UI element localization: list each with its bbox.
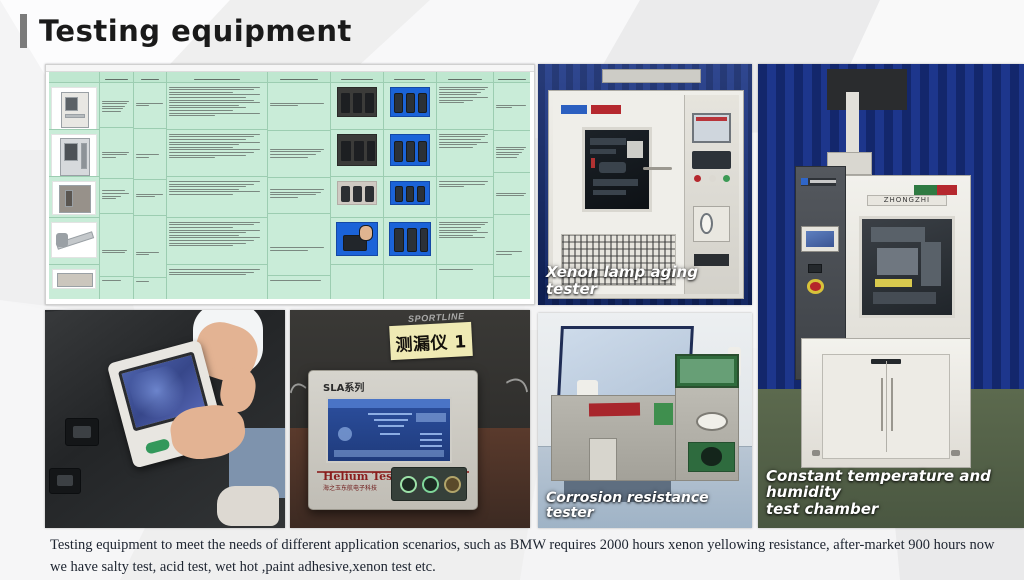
table-cell	[167, 218, 267, 265]
table-column-sample-photo-b	[384, 72, 437, 299]
table-cell	[134, 129, 167, 181]
table-cell	[134, 216, 167, 278]
table-cell	[494, 131, 530, 173]
table-cell	[167, 177, 267, 218]
sample-photo	[390, 181, 430, 205]
sample-photo	[337, 134, 377, 166]
table-cell	[49, 83, 99, 130]
panel-caption-line2: test chamber	[766, 501, 1018, 518]
secondary-display	[808, 264, 823, 272]
page-title-block: Testing equipment	[20, 14, 352, 48]
control-strip[interactable]	[391, 467, 467, 501]
table-cell	[268, 83, 330, 131]
table-cell	[437, 177, 494, 218]
table-cell	[100, 179, 133, 214]
equipment-thumbnail	[51, 134, 97, 177]
table-column-sample-photo-a	[331, 72, 384, 299]
equipment-thumbnail	[52, 269, 96, 289]
indicator-green	[723, 175, 730, 182]
door-handle-left[interactable]	[881, 378, 883, 431]
table-header-cell	[494, 72, 530, 83]
table-cell	[494, 83, 530, 131]
table-cell	[384, 130, 436, 177]
table-cell	[268, 131, 330, 177]
indicator-red	[694, 175, 701, 182]
table-cell	[167, 130, 267, 177]
table-cell	[437, 218, 494, 265]
equipment-thumbnail	[51, 222, 97, 258]
footnote-block: Testing equipment to meet the needs of d…	[50, 534, 1000, 579]
cth-chamber-scene: ZHONGZHI	[758, 64, 1024, 528]
equipment-thumbnail	[52, 181, 96, 215]
helium-leak-tester-scene: SPORTLINE 测漏仪 1 SLA系列	[290, 310, 530, 528]
device-logo	[145, 438, 171, 455]
handheld-tester-scene	[45, 310, 285, 528]
table-cell	[384, 83, 436, 130]
double-doors[interactable]	[822, 354, 950, 459]
vent-slot	[871, 359, 901, 364]
test-specification-table-panel[interactable]	[45, 64, 535, 305]
table-cell	[268, 214, 330, 276]
table-header-cell	[134, 72, 167, 83]
ceiling-ducts	[827, 69, 907, 111]
table-cell	[494, 173, 530, 215]
door-handle-right[interactable]	[891, 378, 893, 431]
window-model-text: ZHONGZHI	[884, 196, 930, 204]
table-cell	[134, 278, 167, 299]
power-knob-green[interactable]	[400, 476, 417, 493]
window-model-label: ZHONGZHI	[867, 195, 947, 207]
table-cell	[100, 277, 133, 299]
panel-caption: Corrosion resistance tester	[546, 491, 746, 522]
person-shoe	[217, 486, 279, 526]
slide-root: Testing equipment	[0, 0, 1024, 580]
clip-fixture	[65, 418, 99, 446]
handheld-tester-panel[interactable]	[45, 310, 285, 528]
level-sight-glass	[589, 438, 617, 481]
helium-leak-tester-panel[interactable]: SPORTLINE 测漏仪 1 SLA系列	[290, 310, 530, 528]
lcd-titlebar	[328, 399, 450, 408]
table-cell	[134, 83, 167, 129]
table-column-remark	[494, 72, 530, 299]
table-cell	[331, 177, 383, 218]
certification-sticker	[914, 185, 957, 195]
table-header-cell	[437, 72, 494, 83]
table-cell	[437, 265, 494, 299]
table-column-item	[100, 72, 134, 299]
chamber-upper-body: ZHONGZHI	[843, 175, 971, 342]
table-column-description	[167, 72, 268, 299]
sla-instrument-body: SLA系列 Helium Test 海之玉东航	[308, 370, 478, 510]
table-cell	[384, 218, 436, 265]
sla-brand-label: Helium Test 海之玉东航电子科技	[323, 470, 397, 492]
sample-photo	[337, 181, 377, 205]
xenon-lamp-aging-tester-panel[interactable]: Xenon lamp aging tester	[538, 64, 752, 305]
table-cell	[100, 83, 133, 128]
table-cell	[437, 130, 494, 177]
sample-photo	[337, 87, 377, 117]
spreadsheet-toolbar	[46, 65, 534, 72]
table-cell	[331, 130, 383, 177]
red-brand-label	[589, 403, 641, 417]
table-column-equipment-image	[49, 72, 100, 299]
table-cell	[100, 128, 133, 179]
spreadsheet-grid	[49, 72, 530, 299]
table-cell	[100, 214, 133, 277]
brand-bar	[801, 178, 836, 186]
sample-photo	[390, 87, 430, 117]
sla-model-label: SLA系列	[323, 379, 364, 394]
panel-caption-line1: Constant temperature and humidity	[766, 468, 1018, 502]
table-header-cell	[49, 72, 99, 83]
sample-photo	[390, 134, 430, 166]
table-cell	[494, 277, 530, 299]
title-accent-bar	[20, 14, 27, 48]
equipment-thumbnail	[51, 87, 97, 130]
table-cell	[437, 83, 494, 130]
table-cell	[167, 83, 267, 130]
top-signage	[602, 69, 700, 83]
sample-photo	[336, 222, 378, 256]
sla-lcd-screen[interactable]	[326, 397, 452, 463]
sla-brand-text: Helium Test	[323, 470, 397, 483]
corrosion-resistance-tester-panel[interactable]: Corrosion resistance tester	[538, 313, 752, 528]
panel-caption: Xenon lamp aging tester	[546, 264, 746, 298]
overhead-pipe	[846, 92, 859, 157]
table-cell	[268, 276, 330, 299]
table-header-cell	[331, 72, 383, 83]
table-cell	[494, 215, 530, 277]
emergency-stop-button[interactable]	[807, 279, 824, 294]
table-header-cell	[268, 72, 330, 83]
door-handle[interactable]	[643, 167, 672, 170]
leak-detector-sign: 测漏仪 1	[389, 322, 473, 360]
table-cell	[167, 265, 267, 299]
indicator-white	[709, 175, 716, 182]
table-cell	[331, 265, 383, 299]
table-cell	[49, 130, 99, 177]
caster-left	[812, 450, 820, 456]
footnote-text: Testing equipment to meet the needs of d…	[50, 534, 1000, 579]
mode-knob[interactable]	[422, 476, 439, 493]
leak-detector-sign-text: 测漏仪 1	[395, 327, 467, 356]
table-cell	[49, 218, 99, 265]
brand-sticker	[561, 105, 621, 114]
table-cell	[331, 83, 383, 130]
sla-brand-sub: 海之玉东航电子科技	[323, 483, 397, 492]
button-row[interactable]	[692, 151, 731, 169]
table-cell	[134, 180, 167, 216]
table-cell	[49, 177, 99, 218]
table-column-result	[437, 72, 495, 299]
access-port[interactable]	[688, 442, 735, 472]
constant-temperature-humidity-chamber-panel[interactable]: ZHONGZHI	[758, 64, 1024, 528]
brand-mark-icon	[801, 178, 808, 185]
sample-photo	[389, 222, 431, 256]
table-header-cell	[100, 72, 133, 83]
brand-text-placeholder	[810, 180, 836, 183]
control-display[interactable]	[675, 354, 739, 388]
caster-right	[951, 450, 959, 456]
table-cell	[384, 177, 436, 218]
table-column-standard	[134, 72, 168, 299]
chamber-lower-cabinet	[801, 338, 971, 468]
adjust-knob[interactable]	[444, 476, 461, 493]
panel-caption: Constant temperature and humidity test c…	[766, 468, 1018, 518]
hmi-display[interactable]	[692, 113, 731, 143]
viewing-window	[859, 216, 955, 318]
touchscreen-hmi[interactable]	[801, 226, 839, 251]
table-cell	[49, 265, 99, 299]
clip-fixture	[49, 468, 81, 494]
table-header-cell	[167, 72, 267, 83]
pressure-gauge-panel	[693, 206, 730, 242]
green-certification-sticker	[654, 403, 673, 425]
table-cell	[384, 265, 436, 299]
spreadsheet-screenshot	[46, 65, 534, 304]
page-title: Testing equipment	[39, 14, 352, 48]
table-cell	[268, 178, 330, 214]
table-cell	[331, 218, 383, 265]
table-column-evaluation	[268, 72, 331, 299]
viewing-window	[582, 127, 653, 213]
table-header-cell	[384, 72, 436, 83]
